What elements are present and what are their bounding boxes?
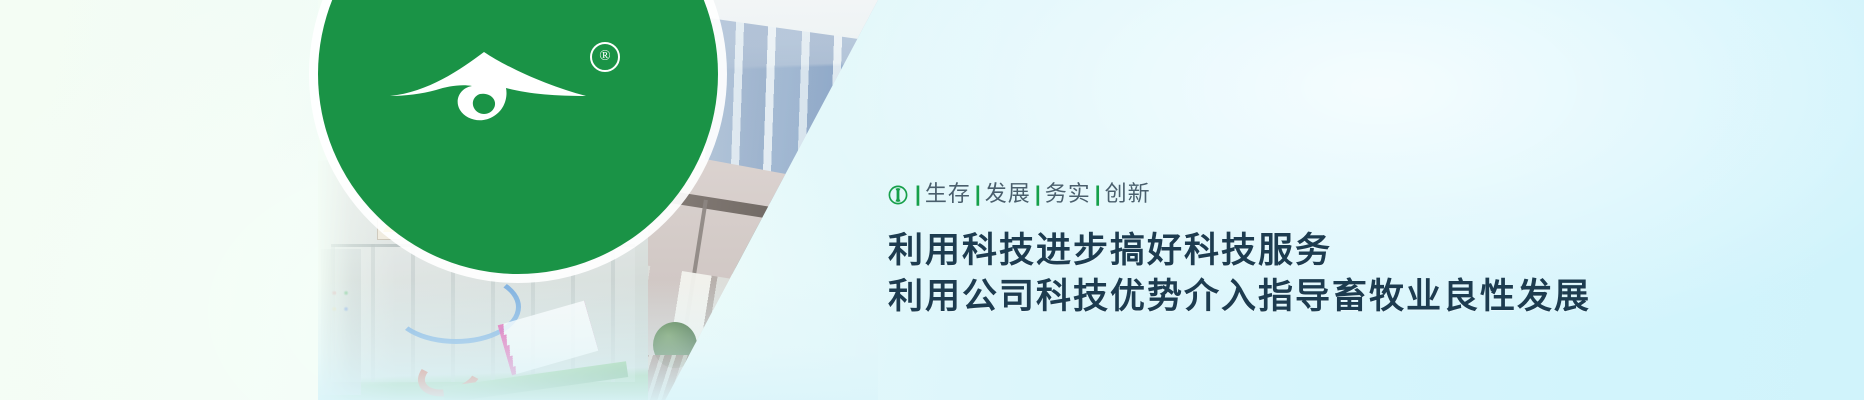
tagline-word-2: 务实 [1045, 184, 1091, 206]
hero-banner: ® | 生存 | 发展 | 务实 | 创新 利用科技进步搞好科技服务 利用公司科… [0, 0, 1864, 400]
tagline-separator-1: | [975, 184, 981, 205]
company-bird-wave-logo [388, 44, 588, 130]
tagline: | 生存 | 发展 | 务实 | 创新 [888, 180, 1748, 210]
tagline-word-1: 发展 [985, 184, 1031, 206]
registered-trademark-icon: ® [590, 42, 620, 72]
headline-line-1: 利用科技进步搞好科技服务 [888, 228, 1748, 274]
tagline-word-3: 创新 [1105, 184, 1151, 206]
tagline-word-0: 生存 [925, 184, 971, 206]
headline-line-2: 利用公司科技优势介入指导畜牧业良性发展 [888, 274, 1748, 320]
tagline-separator-2: | [1035, 184, 1041, 205]
tagline-separator-0: | [915, 184, 921, 205]
tagline-separator-3: | [1095, 184, 1101, 205]
green-circle-emblem-icon [888, 185, 908, 205]
banner-text-block: | 生存 | 发展 | 务实 | 创新 利用科技进步搞好科技服务 利用公司科技优… [888, 180, 1748, 320]
